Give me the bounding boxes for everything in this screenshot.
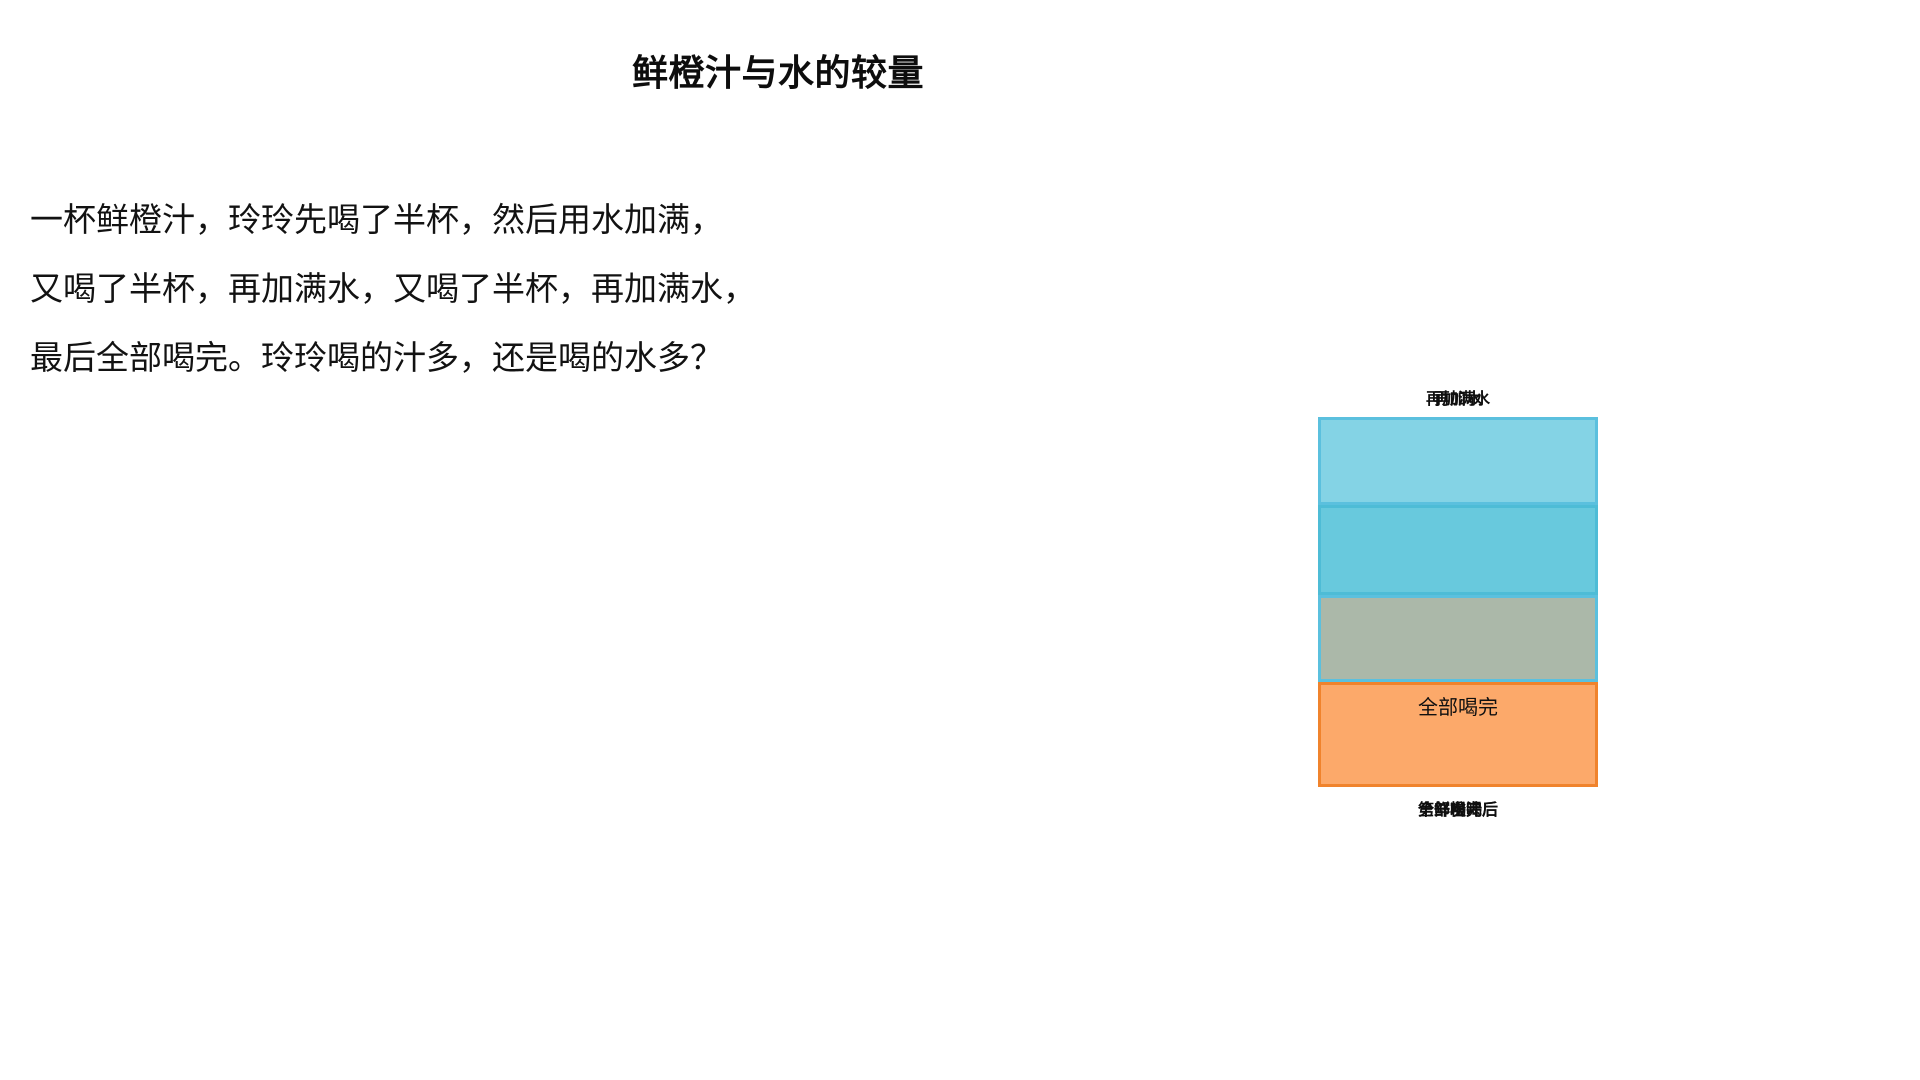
problem-line-2: 又喝了半杯，再加满水，又喝了半杯，再加满水， [30,254,1030,323]
diagram-bottom-label-3: 全部喝完后 [1318,801,1598,819]
glass-segment-1 [1318,417,1598,505]
glass-segment-3 [1318,595,1598,682]
glass-segment-4-label: 全部喝完 [1321,685,1595,719]
problem-line-1: 一杯鲜橙汁，玲玲先喝了半杯，然后用水加满， [30,185,1030,254]
diagram-top-label-2: 再加满水 [1318,390,1598,408]
diagram-top-label-group: 再加水 再加满水 [1318,390,1598,410]
problem-line-3: 最后全部喝完。玲玲喝的汁多，还是喝的水多？ [30,323,1030,392]
glass-segment-2 [1318,505,1598,595]
problem-statement: 一杯鲜橙汁，玲玲先喝了半杯，然后用水加满， 又喝了半杯，再加满水，又喝了半杯，再… [30,185,1030,392]
glass-stack: 全部喝完 [1318,417,1598,787]
page-title: 鲜橙汁与水的较量 [0,52,1556,95]
glass-segment-4: 全部喝完 [1318,682,1598,787]
diagram-bottom-label-group: 第一次喝后 鲜橙汁 全部喝完后 [1318,801,1598,821]
glass-diagram: 再加水 再加满水 全部喝完 第一次喝后 鲜橙汁 全部喝完后 [1318,390,1598,870]
